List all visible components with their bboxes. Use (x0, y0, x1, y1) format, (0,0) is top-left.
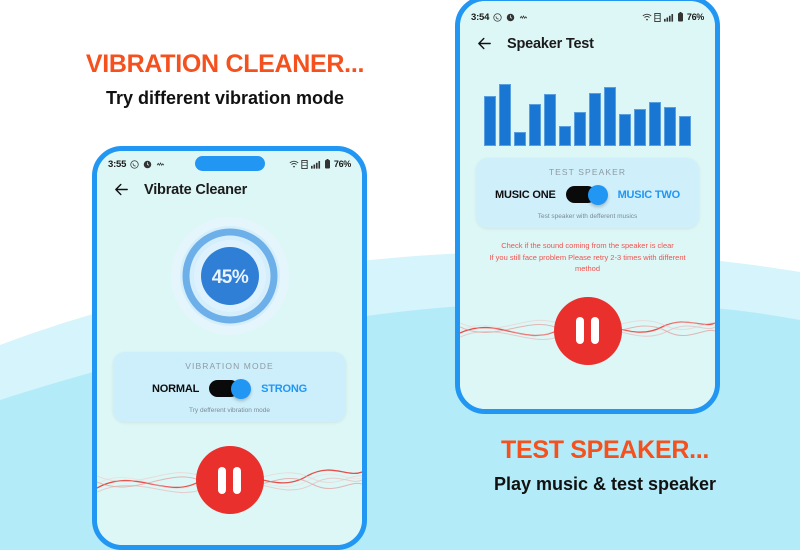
vibration-mode-label-strong[interactable]: STRONG (261, 383, 307, 395)
whatsapp-icon (130, 160, 139, 169)
pause-button[interactable] (554, 297, 622, 365)
screenshot-stage: VIBRATION CLEANER... Try different vibra… (0, 0, 800, 550)
status-bar-right-group: 76% (289, 159, 351, 169)
pause-icon-bar-right (233, 467, 241, 494)
sim-icon (654, 13, 661, 22)
headline-left: VIBRATION CLEANER... Try different vibra… (40, 50, 410, 109)
instruction-line-1: Check if the sound coming from the speak… (472, 240, 703, 252)
battery-icon (324, 159, 331, 169)
phone-left-app-bar: Vibrate Cleaner (97, 177, 362, 208)
status-bar-time: 3:54 (471, 12, 489, 23)
signal-icon (664, 13, 675, 22)
equalizer-bar (634, 109, 646, 146)
vibration-mode-toggle-row: NORMAL STRONG (123, 379, 336, 398)
headline-right-title: TEST SPEAKER... (420, 436, 790, 465)
dynamic-island (195, 156, 265, 171)
equalizer-visualizer (460, 68, 715, 146)
headline-right-subtitle: Play music & test speaker (420, 474, 790, 495)
sim-icon (301, 160, 308, 169)
status-bar-time: 3:55 (108, 159, 126, 170)
vibration-mode-label-normal[interactable]: NORMAL (152, 383, 199, 395)
pause-icon-bar-right (591, 317, 599, 344)
equalizer-bar (529, 104, 541, 146)
headline-right: TEST SPEAKER... Play music & test speake… (420, 436, 790, 495)
clock-icon (506, 13, 515, 22)
status-bar-left-group: 3:54 (471, 12, 528, 23)
gauge-value-label: 45% (211, 267, 248, 288)
equalizer-bar (619, 114, 631, 146)
instruction-line-3: method (472, 263, 703, 275)
back-arrow-icon[interactable] (476, 35, 493, 52)
gauge-svg: 45% (168, 214, 292, 338)
battery-percent-label: 76% (334, 159, 351, 169)
vibration-mode-card: VIBRATION MODE NORMAL STRONG Try deffere… (113, 352, 346, 422)
equalizer-bar (559, 126, 571, 146)
back-arrow-icon[interactable] (113, 181, 130, 198)
whatsapp-icon (493, 13, 502, 22)
phone-right-app-bar: Speaker Test (460, 27, 715, 62)
vibration-mode-switch-knob[interactable] (231, 379, 251, 399)
wifi-icon (642, 13, 652, 22)
headline-left-title: VIBRATION CLEANER... (40, 50, 410, 79)
pause-icon-bar-left (576, 317, 584, 344)
vibration-mode-caption: Try defferent vibration mode (123, 407, 336, 414)
phone-right-screen: 3:54 (460, 1, 715, 409)
equalizer-bar (664, 107, 676, 146)
signal-icon (311, 160, 322, 169)
pause-button[interactable] (196, 446, 264, 514)
vibrate-icon (156, 160, 165, 169)
page-title: Speaker Test (507, 36, 594, 52)
phone-left-status-bar: 3:55 (97, 151, 362, 177)
test-speaker-caption: Test speaker with defferent musics (486, 213, 689, 220)
battery-percent-label: 76% (687, 12, 704, 22)
vibration-intensity-gauge: 45% (97, 214, 362, 338)
page-title: Vibrate Cleaner (144, 182, 247, 198)
phone-right-status-bar: 3:54 (460, 1, 715, 27)
test-speaker-card: TEST SPEAKER MUSIC ONE MUSIC TWO Test sp… (476, 158, 699, 228)
phone-mockup-vibrate-cleaner: 3:55 (92, 146, 367, 550)
equalizer-bar (499, 84, 511, 146)
pause-icon-bar-left (218, 467, 226, 494)
music-one-label[interactable]: MUSIC ONE (495, 189, 556, 201)
equalizer-bar (574, 112, 586, 146)
status-bar-left-group: 3:55 (108, 159, 165, 170)
vibrate-icon (519, 13, 528, 22)
phone-left-playback-area (97, 432, 362, 528)
music-two-label[interactable]: MUSIC TWO (618, 189, 680, 201)
wifi-icon (289, 160, 299, 169)
battery-icon (677, 12, 684, 22)
music-selector-switch[interactable] (566, 185, 608, 204)
equalizer-bar (514, 132, 526, 146)
test-speaker-card-title: TEST SPEAKER (486, 167, 689, 177)
equalizer-bar (484, 96, 496, 146)
headline-left-subtitle: Try different vibration mode (40, 88, 410, 109)
equalizer-bar (679, 116, 691, 146)
speaker-test-instructions: Check if the sound coming from the speak… (460, 240, 715, 275)
vibration-mode-switch[interactable] (209, 379, 251, 398)
equalizer-bar (649, 102, 661, 146)
status-bar-right-group: 76% (642, 12, 704, 22)
music-selector-switch-knob[interactable] (588, 185, 608, 205)
equalizer-bar (544, 94, 556, 146)
equalizer-bar (604, 87, 616, 146)
phone-mockup-speaker-test: 3:54 (455, 0, 720, 414)
phone-left-screen: 3:55 (97, 151, 362, 545)
phone-right-playback-area (460, 285, 715, 377)
instruction-line-2: If you still face problem Please retry 2… (472, 252, 703, 264)
test-speaker-toggle-row: MUSIC ONE MUSIC TWO (486, 185, 689, 204)
vibration-mode-card-title: VIBRATION MODE (123, 361, 336, 371)
equalizer-bar (589, 93, 601, 146)
clock-icon (143, 160, 152, 169)
